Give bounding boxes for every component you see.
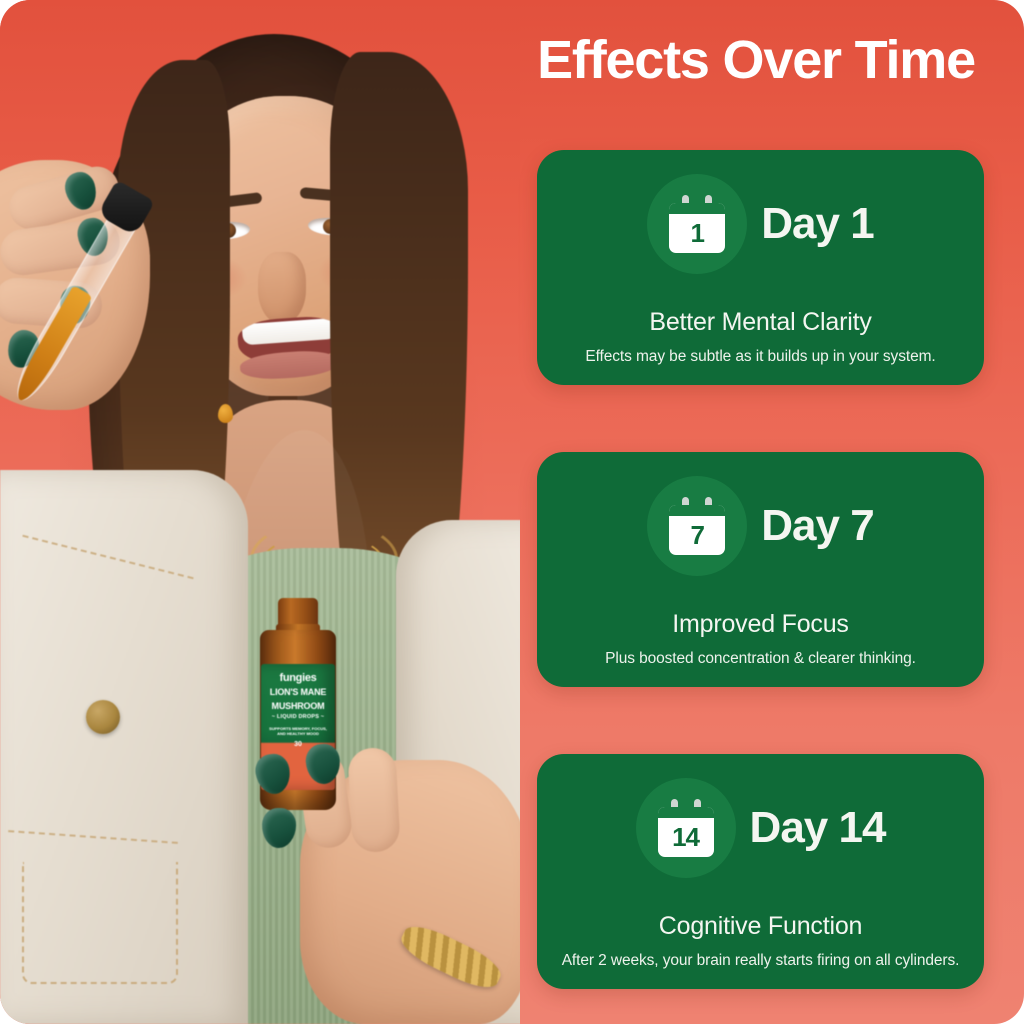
timeline-card-day-7: 7 Day 7 Improved Focus Plus boosted conc… xyxy=(537,452,984,687)
calendar-header-strip xyxy=(669,203,725,214)
calendar-icon-badge: 14 xyxy=(636,778,736,878)
card-title: Improved Focus xyxy=(537,610,984,639)
product-name-line2: MUSHROOM xyxy=(261,702,335,712)
calendar-day-number: 7 xyxy=(669,516,725,555)
calendar-body: 7 xyxy=(669,505,725,555)
day-label: Day 1 xyxy=(761,199,873,249)
nose xyxy=(258,252,306,324)
day-label: Day 14 xyxy=(750,803,886,853)
timeline-card-day-14: 14 Day 14 Cognitive Function After 2 wee… xyxy=(537,754,984,989)
card-header: 7 Day 7 xyxy=(537,470,984,582)
product-claim: SUPPORTS MEMORY, FOCUS, AND HEALTHY MOOD xyxy=(261,726,335,736)
liquid-droplet xyxy=(218,404,233,423)
calendar-body: 1 xyxy=(669,203,725,253)
card-title: Better Mental Clarity xyxy=(537,308,984,337)
card-header: 1 Day 1 xyxy=(537,168,984,280)
calendar-icon-badge: 7 xyxy=(647,476,747,576)
calendar-body: 14 xyxy=(658,807,714,857)
card-description: Effects may be subtle as it builds up in… xyxy=(537,348,984,366)
lifestyle-product-photo: fungies LION'S MANE MUSHROOM ~ LIQUID DR… xyxy=(0,0,520,1024)
finger xyxy=(347,747,400,853)
content-column: Effects Over Time 1 Day 1 Better Mental xyxy=(520,0,1024,1024)
page-title: Effects Over Time xyxy=(520,30,992,90)
calendar-icon: 14 xyxy=(658,799,714,857)
card-title: Cognitive Function xyxy=(537,912,984,941)
effects-over-time-poster: fungies LION'S MANE MUSHROOM ~ LIQUID DR… xyxy=(0,0,1024,1024)
calendar-header-strip xyxy=(658,807,714,818)
teeth xyxy=(242,318,337,346)
jacket-pocket xyxy=(22,862,178,984)
brand-name: fungies xyxy=(261,672,335,684)
calendar-icon: 7 xyxy=(669,497,725,555)
jacket-brass-button xyxy=(86,700,120,734)
card-description: After 2 weeks, your brain really starts … xyxy=(537,952,984,970)
card-description: Plus boosted concentration & clearer thi… xyxy=(537,650,984,668)
calendar-icon-badge: 1 xyxy=(647,174,747,274)
calendar-day-number: 1 xyxy=(669,214,725,253)
product-name-line1: LION'S MANE xyxy=(261,688,335,698)
calendar-day-number: 14 xyxy=(658,818,714,857)
calendar-icon: 1 xyxy=(669,195,725,253)
card-header: 14 Day 14 xyxy=(537,772,984,884)
timeline-card-day-1: 1 Day 1 Better Mental Clarity Effects ma… xyxy=(537,150,984,385)
calendar-header-strip xyxy=(669,505,725,516)
day-label: Day 7 xyxy=(761,501,873,551)
product-form: ~ LIQUID DROPS ~ xyxy=(261,714,335,720)
